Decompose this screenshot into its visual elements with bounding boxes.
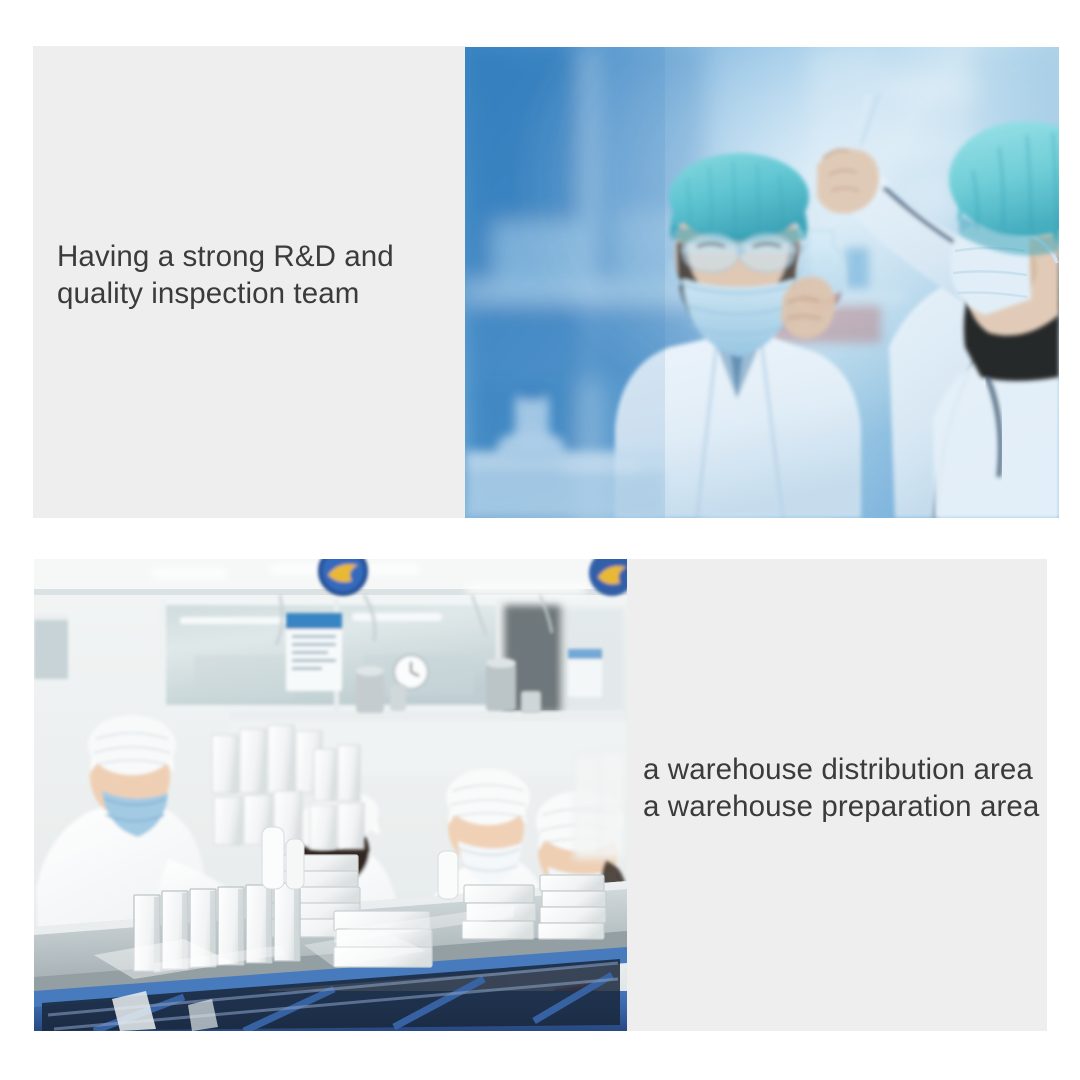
section-rnd-quality: Having a strong R&D and quality inspecti… — [33, 46, 1059, 518]
caption-top-line-2: quality inspection team — [57, 275, 457, 312]
caption-bottom: a warehouse distribution area a warehous… — [643, 751, 1063, 825]
caption-bottom-line-1: a warehouse distribution area — [643, 751, 1063, 788]
warehouse-packing-illustration — [34, 559, 627, 1031]
warehouse-packing-photo — [34, 559, 627, 1031]
caption-top: Having a strong R&D and quality inspecti… — [57, 238, 457, 312]
caption-top-line-1: Having a strong R&D and — [57, 238, 457, 275]
caption-bottom-line-2: a warehouse preparation area — [643, 788, 1063, 825]
section-warehouse: a warehouse distribution area a warehous… — [33, 559, 1047, 1031]
lab-inspection-illustration — [465, 47, 1059, 518]
banner-page: Having a strong R&D and quality inspecti… — [0, 0, 1080, 1080]
lab-inspection-photo — [465, 47, 1059, 518]
